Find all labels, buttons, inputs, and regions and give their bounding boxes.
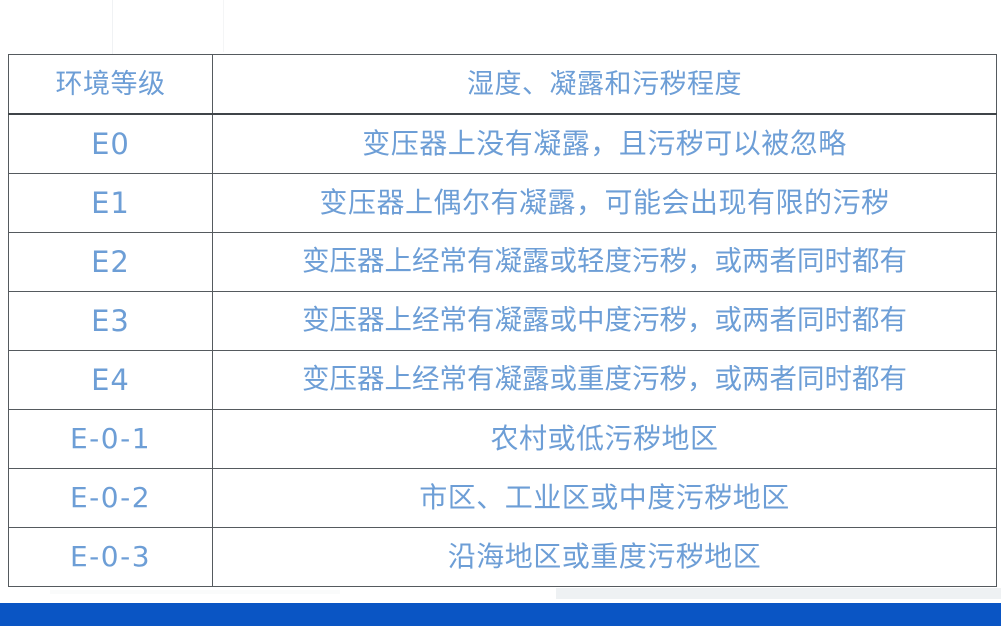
cell-level: E0 (9, 114, 213, 174)
description-label: 变压器上没有凝露，且污秽可以被忽略 (213, 115, 996, 173)
cell-level: E1 (9, 174, 213, 233)
cell-description: 变压器上没有凝露，且污秽可以被忽略 (213, 114, 997, 174)
level-label: E-0-1 (9, 410, 212, 468)
table-row: E3 变压器上经常有凝露或中度污秽，或两者同时都有 (9, 292, 997, 351)
scan-artifact-band-right (556, 588, 1001, 599)
bottom-accent-bar (0, 603, 1001, 626)
description-label: 变压器上经常有凝露或中度污秽，或两者同时都有 (213, 292, 996, 350)
description-label: 市区、工业区或中度污秽地区 (213, 469, 996, 527)
cell-level: E-0-3 (9, 528, 213, 587)
table-row: E-0-2 市区、工业区或中度污秽地区 (9, 469, 997, 528)
cell-description: 变压器上经常有凝露或中度污秽，或两者同时都有 (213, 292, 997, 351)
page-canvas: 环境等级 湿度、凝露和污秽程度 E0 变压器上没有凝露，且污秽可以被忽略 E1 (0, 0, 1001, 626)
scan-artifact-line-left (112, 0, 113, 54)
table-row: E1 变压器上偶尔有凝露，可能会出现有限的污秽 (9, 174, 997, 233)
header-label-level: 环境等级 (9, 55, 212, 113)
table-row: E0 变压器上没有凝露，且污秽可以被忽略 (9, 114, 997, 174)
cell-description: 农村或低污秽地区 (213, 410, 997, 469)
cell-description: 变压器上经常有凝露或重度污秽，或两者同时都有 (213, 351, 997, 410)
cell-level: E-0-1 (9, 410, 213, 469)
level-label: E2 (9, 233, 212, 291)
cell-level: E3 (9, 292, 213, 351)
table-row: E2 变压器上经常有凝露或轻度污秽，或两者同时都有 (9, 233, 997, 292)
cell-level: E-0-2 (9, 469, 213, 528)
table-row: E-0-1 农村或低污秽地区 (9, 410, 997, 469)
level-label: E-0-3 (9, 528, 212, 586)
header-cell-level: 环境等级 (9, 55, 213, 115)
header-label-description: 湿度、凝露和污秽程度 (213, 55, 996, 113)
description-label: 变压器上偶尔有凝露，可能会出现有限的污秽 (213, 174, 996, 232)
description-label: 农村或低污秽地区 (213, 410, 996, 468)
scan-artifact-line-mid (223, 0, 224, 52)
level-label: E-0-2 (9, 469, 212, 527)
environment-class-table: 环境等级 湿度、凝露和污秽程度 E0 变压器上没有凝露，且污秽可以被忽略 E1 (8, 54, 997, 587)
cell-description: 沿海地区或重度污秽地区 (213, 528, 997, 587)
header-cell-description: 湿度、凝露和污秽程度 (213, 55, 997, 115)
level-label: E4 (9, 351, 212, 409)
description-label: 变压器上经常有凝露或重度污秽，或两者同时都有 (213, 351, 996, 409)
table-header-row: 环境等级 湿度、凝露和污秽程度 (9, 55, 997, 115)
cell-description: 变压器上经常有凝露或轻度污秽，或两者同时都有 (213, 233, 997, 292)
scan-artifact-band-left (50, 590, 340, 594)
description-label: 沿海地区或重度污秽地区 (213, 528, 996, 586)
description-label: 变压器上经常有凝露或轻度污秽，或两者同时都有 (213, 233, 996, 291)
cell-description: 市区、工业区或中度污秽地区 (213, 469, 997, 528)
table-row: E-0-3 沿海地区或重度污秽地区 (9, 528, 997, 587)
table-row: E4 变压器上经常有凝露或重度污秽，或两者同时都有 (9, 351, 997, 410)
level-label: E3 (9, 292, 212, 350)
cell-description: 变压器上偶尔有凝露，可能会出现有限的污秽 (213, 174, 997, 233)
cell-level: E4 (9, 351, 213, 410)
level-label: E1 (9, 174, 212, 232)
cell-level: E2 (9, 233, 213, 292)
level-label: E0 (9, 115, 212, 173)
